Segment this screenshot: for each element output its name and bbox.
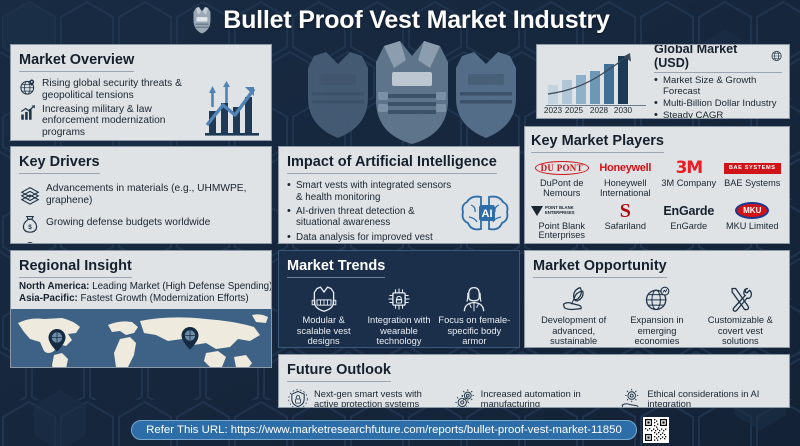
bae-systems-logo-icon: BAE SYSTEMS [722,158,784,178]
safariland-logo-text: S [620,202,631,220]
shield-lock-icon [287,388,309,408]
modular-vest-icon [310,285,338,313]
list-item: Increasing military & law enforcement mo… [19,104,201,138]
trend-label: Modular & scalable vest designs [287,315,360,346]
opportunity-item: Expansion in emerging economies [616,285,697,348]
infographic-poster: Bullet Proof Vest Market Industry [0,0,800,446]
region-name: Asia-Pacific: [19,293,78,304]
impact-ai-bullets: Smart vests with integrated sensors & he… [287,177,459,244]
player-name: Point Blank Enterprises [531,222,593,241]
globe-growth-icon [643,285,671,313]
key-players-title: Key Market Players [531,134,664,153]
3m-logo-icon: 3M [658,158,720,178]
page-title: Bullet Proof Vest Market Industry [223,6,610,35]
player-name: EnGarde [658,222,720,232]
global-market-bullets: Market Size & Growth Forecast Multi-Bill… [654,75,782,119]
market-overview-title: Market Overview [19,53,134,72]
regional-line: Asia-Pacific: Fastest Growth (Modernizat… [19,293,263,305]
hand-gear-icon [620,388,642,408]
gears-icon [454,388,476,408]
player-honeywell: Honeywell Honeywell International [595,158,657,198]
outlook-label: Next-gen smart vests with active protect… [314,389,448,409]
bae-logo-text: BAE SYSTEMS [724,163,781,174]
region-name: North America: [19,281,89,292]
market-opportunity-items: Development of advanced, sustainable mat… [533,285,781,348]
market-trends-card: Market Trends Modular & scalable vest de… [278,250,520,348]
market-overview-card: Market Overview Rising global security t… [10,44,272,141]
player-engarde: EnGarde EnGarde [658,201,720,241]
opportunity-item: Development of advanced, sustainable mat… [533,285,614,348]
future-outlook-title: Future Outlook [287,363,391,382]
key-market-players-card: Key Market Players DU PONT DuPont de Nem… [524,126,790,244]
safariland-logo-icon: S [595,201,657,221]
hand-leaf-icon [560,285,588,313]
players-grid: DU PONT DuPont de Nemours Honeywell Hone… [531,158,783,241]
player-name: 3M Company [658,179,720,189]
regional-insight-lines: North America: Leading Market (High Defe… [19,281,263,305]
wearable-chip-icon [385,285,413,313]
decorative-vests [296,38,528,146]
list-item: $ Growing defense budgets worldwide [19,212,263,234]
trend-label: Integration with wearable technology [362,315,435,346]
regional-line: North America: Leading Market (High Defe… [19,281,263,293]
svg-text:2030: 2030 [614,106,633,114]
player-name: BAE Systems [722,179,784,189]
player-name: Honeywell International [595,179,657,198]
trend-label: Focus on female-specific body armor [438,315,511,346]
ai-brain-icon: AI [459,191,511,237]
global-market-card: 2023 2025 2028 2030 Global Market (USD) … [536,44,790,119]
list-item: Market Size & Growth Forecast [654,75,782,97]
region-detail: Fastest Growth (Modernization Efforts) [78,293,249,304]
key-drivers-title: Key Drivers [19,155,100,174]
player-point-blank: POINT BLANK ENTERPRISES Point Blank Ente… [531,201,593,241]
globe-pin-icon [19,78,37,96]
bar-chart-growth-icon [19,104,37,122]
globe-icon [771,50,782,62]
key-drivers-card: Key Drivers Advancements in materials (e… [10,146,272,244]
list-item-label: Growing defense budgets worldwide [46,217,210,228]
point-blank-logo-text: POINT BLANK ENTERPRISES [545,206,593,216]
list-item-label: Increasing military & law enforcement mo… [42,104,201,138]
regional-insight-title: Regional Insight [19,259,132,278]
market-trends-items: Modular & scalable vest designs Integrat… [287,285,511,346]
global-market-title-row: Global Market (USD) [654,44,782,73]
global-market-title: Global Market (USD) [654,44,767,70]
ballistic-vest-icon [190,5,214,35]
list-item: AI-driven threat detection & situational… [287,206,459,229]
mku-logo-text: MKU [735,202,769,219]
future-outlook-items: Next-gen smart vests with active protect… [287,388,781,408]
svg-text:$: $ [28,224,32,231]
officer-check-icon [19,240,41,244]
list-item: Steady CAGR [654,110,782,119]
player-name: MKU Limited [722,222,784,232]
poster-header: Bullet Proof Vest Market Industry [0,0,800,40]
point-blank-logo-icon: POINT BLANK ENTERPRISES [531,201,593,221]
outlook-item: Increased automation in manufacturing [454,388,615,408]
trend-item: Integration with wearable technology [362,285,435,346]
dupont-logo-text: DU PONT [535,161,589,175]
future-outlook-card: Future Outlook Next-gen smart vests with… [278,354,790,408]
3m-logo-text: 3M [676,158,702,178]
opportunity-label: Expansion in emerging economies [616,315,697,346]
list-item: Advancements in materials (e.g., UHMWPE,… [19,183,263,206]
player-dupont: DU PONT DuPont de Nemours [531,158,593,198]
list-item: Strict safety regulations for personnel [19,240,263,244]
svg-text:2023: 2023 [544,106,563,114]
list-item: Rising global security threats & geopoli… [19,78,201,101]
regional-insight-card: Regional Insight North America: Leading … [10,250,272,368]
point-blank-triangle-icon [531,206,543,216]
tools-cross-icon [726,285,754,313]
world-map [11,309,271,368]
engarde-logo-icon: EnGarde [658,201,720,221]
engarde-logo-text: EnGarde [663,204,714,218]
opportunity-label: Customizable & covert vest solutions [700,315,781,346]
svg-text:2025: 2025 [565,106,584,114]
market-opportunity-title: Market Opportunity [533,259,667,278]
female-soldier-icon [460,285,488,313]
market-overview-list: Rising global security threats & geopoli… [19,75,201,141]
footer-bar: Refer This URL: https://www.marketresear… [0,414,800,446]
trend-item: Focus on female-specific body armor [438,285,511,346]
global-market-bar-chart: 2023 2025 2028 2030 [544,50,648,114]
trend-item: Modular & scalable vest designs [287,285,360,346]
key-drivers-list: Advancements in materials (e.g., UHMWPE,… [19,183,263,244]
growth-arrow-chart-icon [201,81,263,139]
ai-brain-label: AI [482,208,493,220]
opportunity-label: Development of advanced, sustainable mat… [533,315,614,348]
money-bag-icon: $ [19,212,41,234]
player-bae: BAE SYSTEMS BAE Systems [722,158,784,198]
mku-logo-icon: MKU [722,201,784,221]
market-trends-title: Market Trends [287,259,385,278]
outlook-item: Ethical considerations in AI integration [620,388,781,408]
fabric-layers-icon [19,184,41,206]
list-item: Multi-Billion Dollar Industry [654,98,782,109]
market-opportunity-card: Market Opportunity Development of advanc… [524,250,790,348]
impact-ai-title: Impact of Artificial Intelligence [287,155,497,174]
honeywell-logo-icon: Honeywell [595,158,657,178]
impact-of-ai-card: Impact of Artificial Intelligence Smart … [278,146,520,244]
player-3m: 3M 3M Company [658,158,720,198]
list-item-label: Rising global security threats & geopoli… [42,78,201,101]
dupont-logo-icon: DU PONT [531,158,593,178]
player-name: DuPont de Nemours [531,179,593,198]
list-item: Data analysis for improved vest design &… [287,232,459,244]
region-detail: Leading Market (High Defense Spending) [89,281,272,292]
refer-url-link[interactable]: Refer This URL: https://www.marketresear… [131,420,637,440]
list-item-label: Advancements in materials (e.g., UHMWPE,… [46,183,263,206]
outlook-item: Next-gen smart vests with active protect… [287,388,448,408]
honeywell-logo-text: Honeywell [599,162,651,174]
qr-code-icon[interactable] [643,417,669,443]
outlook-label: Increased automation in manufacturing [481,389,615,409]
outlook-label: Ethical considerations in AI integration [647,389,781,409]
list-item: Smart vests with integrated sensors & he… [287,180,459,203]
player-mku: MKU MKU Limited [722,201,784,241]
player-name: Safariland [595,222,657,232]
svg-text:2028: 2028 [590,106,609,114]
player-safariland: S Safariland [595,201,657,241]
opportunity-item: Customizable & covert vest solutions [700,285,781,348]
